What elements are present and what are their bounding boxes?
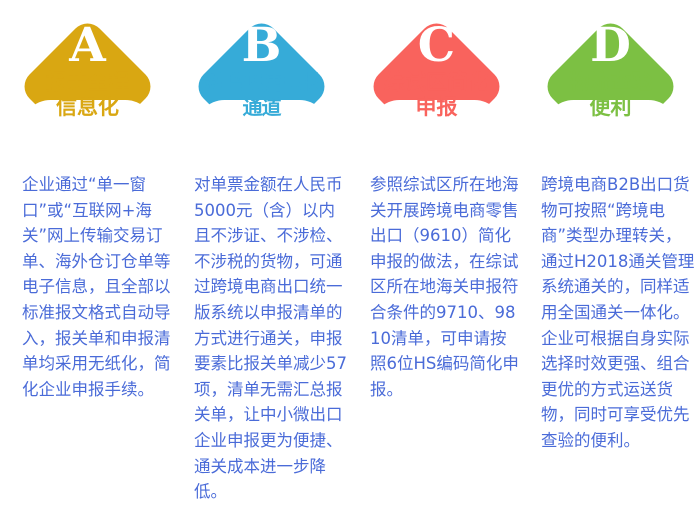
badge-letter-a: A [0,22,175,69]
body-paragraph-d: 跨境电商B2B出口货物可按照“跨境电商”类型办理转关，通过H2018通关管理系统… [541,172,697,454]
body-paragraph-c: 参照综试区所在地海关开展跨境电商零售出口（9610）简化申报的做法，在综试区所在… [370,172,522,402]
badge-d: D 物流查验 便利 [523,0,698,165]
badge-letter-d: D [523,22,698,69]
badge-title-b: 新增便捷申报 通道 [174,70,349,120]
badge-c: C 综试区简化 申报 [349,0,524,165]
infographic-column-a: A 报关全程 信息化 企业通过“单一窗口”或“互联网+海关”网上传输交易订单、海… [0,0,175,465]
infographic-column-c: C 综试区简化 申报 参照综试区所在地海关开展跨境电商零售出口（9610）简化申… [349,0,524,465]
infographic-root: A 报关全程 信息化 企业通过“单一窗口”或“互联网+海关”网上传输交易订单、海… [0,0,698,465]
badge-title-a: 报关全程 信息化 [0,70,175,120]
body-paragraph-b: 对单票金额在人民币5000元（含）以内且不涉证、不涉检、不涉税的货物，可通过跨境… [194,172,349,505]
badge-a: A 报关全程 信息化 [0,0,175,165]
badge-letter-c: C [349,22,524,69]
badge-b: B 新增便捷申报 通道 [174,0,349,165]
badge-title-c: 综试区简化 申报 [349,70,524,120]
badge-letter-b: B [174,22,349,69]
infographic-column-d: D 物流查验 便利 跨境电商B2B出口货物可按照“跨境电商”类型办理转关，通过H… [523,0,698,465]
infographic-column-b: B 新增便捷申报 通道 对单票金额在人民币5000元（含）以内且不涉证、不涉检、… [174,0,349,465]
badge-title-d: 物流查验 便利 [523,70,698,120]
body-paragraph-a: 企业通过“单一窗口”或“互联网+海关”网上传输交易订单、海外仓订仓单等电子信息，… [22,172,174,402]
